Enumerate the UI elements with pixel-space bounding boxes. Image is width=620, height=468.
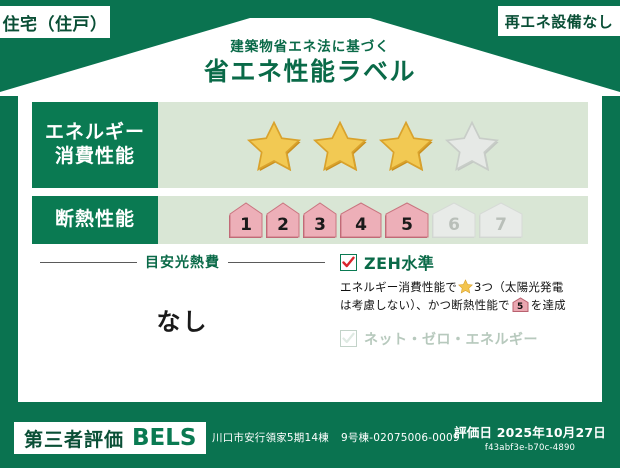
insulation-grade-number: 2 <box>266 217 300 234</box>
document-id: f43abf3e-b70c-4890 <box>454 443 606 453</box>
bels-logo: 第三者評価 BELS <box>14 422 206 454</box>
net-zero-energy-row: ネット・ゼロ・エネルギー <box>340 329 590 349</box>
evaluation-date-block: 評価日 2025年10月27日 f43abf3e-b70c-4890 <box>454 422 606 453</box>
insulation-grade-4: 4 <box>340 202 382 238</box>
insulation-grade-7: 7 <box>479 202 523 238</box>
energy-performance-label: エネルギー 消費性能 <box>32 102 158 188</box>
star-icon-inline <box>458 279 473 294</box>
title-main: 省エネ性能ラベル <box>0 58 620 86</box>
zeh-title: ZEH水準 <box>364 250 434 274</box>
utility-cost-value: なし <box>40 302 325 337</box>
tab-renewable-status: 再エネ設備なし <box>498 6 620 36</box>
utility-cost-heading: 目安光熱費 <box>40 252 325 272</box>
utility-cost-block: 目安光熱費 なし <box>40 252 325 337</box>
star-rating-panel <box>158 102 588 188</box>
tab-building-type: 住宅（住戸） <box>0 6 110 38</box>
footer-bar: 第三者評価 BELS 川口市安行領家5期14棟 9号棟-02075006-000… <box>0 410 620 468</box>
star-icon-filled <box>310 116 370 174</box>
insulation-badge-number: 5 <box>512 303 529 312</box>
energy-performance-label: 住宅（住戸） 再エネ設備なし 建築物省エネ法に基づく 省エネ性能ラベル エネルギ… <box>0 0 620 468</box>
building-number: 9号棟-02075006-0009 <box>341 430 460 445</box>
evaluation-date: 評価日 2025年10月27日 <box>454 422 606 441</box>
insulation-grade-number: 4 <box>340 217 382 234</box>
energy-label-line1: エネルギー <box>45 121 145 145</box>
insulation-grade-number: 6 <box>432 217 476 234</box>
utility-cost-heading-text: 目安光熱費 <box>145 252 220 272</box>
zeh-desc-stars: 3つ（太陽光発電 <box>474 280 563 294</box>
zeh-description: エネルギー消費性能で3つ（太陽光発電 は考慮しない）、かつ断熱性能で 5 を達成 <box>340 279 590 315</box>
label-title: 建築物省エネ法に基づく 省エネ性能ラベル <box>0 40 620 85</box>
bels-jp-text: 第三者評価 <box>24 425 124 452</box>
net-zero-energy-checkbox[interactable] <box>340 330 357 347</box>
bels-en-text: BELS <box>132 425 196 451</box>
rule-right <box>228 262 325 263</box>
insulation-grade-2: 2 <box>266 202 300 238</box>
energy-performance-row: エネルギー 消費性能 <box>32 102 588 188</box>
insulation-grade-number: 3 <box>303 217 337 234</box>
body-card: エネルギー 消費性能 断熱性能 1234567 目安光熱費 なし <box>18 92 602 402</box>
insulation-grade-panel: 1234567 <box>158 196 588 244</box>
address-text: 川口市安行領家5期14棟 <box>212 430 329 445</box>
rule-left <box>40 262 137 263</box>
insulation-grade-6: 6 <box>432 202 476 238</box>
star-icon-filled <box>376 116 436 174</box>
zeh-desc-part1: エネルギー消費性能で <box>340 280 457 294</box>
insulation-performance-row: 断熱性能 1234567 <box>32 196 588 244</box>
insulation-grade-3: 3 <box>303 202 337 238</box>
insulation-grade-number: 5 <box>385 217 429 234</box>
energy-label-line2: 消費性能 <box>55 145 135 169</box>
zeh-checkbox[interactable] <box>340 254 357 271</box>
zeh-desc-part3: を達成 <box>531 298 566 312</box>
zeh-desc-part2: は考慮しない）、かつ断熱性能で <box>340 298 510 312</box>
insulation-grade-1: 1 <box>229 202 263 238</box>
insulation-grade-number: 7 <box>479 217 523 234</box>
star-icon-filled <box>244 116 304 174</box>
zeh-block: ZEH水準 エネルギー消費性能で3つ（太陽光発電 は考慮しない）、かつ断熱性能で… <box>340 250 590 349</box>
address-block: 川口市安行領家5期14棟 9号棟-02075006-0009 <box>212 430 460 445</box>
insulation-grade-5: 5 <box>385 202 429 238</box>
insulation-badge-icon: 5 <box>512 297 529 312</box>
star-icon-empty <box>442 116 502 174</box>
lower-section: 目安光熱費 なし ZEH水準 エネルギー消費性能で3つ（太陽光発電 は考慮 <box>18 252 602 402</box>
insulation-performance-label: 断熱性能 <box>32 196 158 244</box>
net-zero-energy-label: ネット・ゼロ・エネルギー <box>364 329 538 349</box>
insulation-grade-number: 1 <box>229 217 263 234</box>
zeh-heading: ZEH水準 <box>340 250 590 274</box>
check-icon <box>342 256 355 269</box>
check-icon-disabled <box>342 332 355 345</box>
insulation-label-line1: 断熱性能 <box>55 208 135 232</box>
title-subtitle: 建築物省エネ法に基づく <box>0 40 620 55</box>
